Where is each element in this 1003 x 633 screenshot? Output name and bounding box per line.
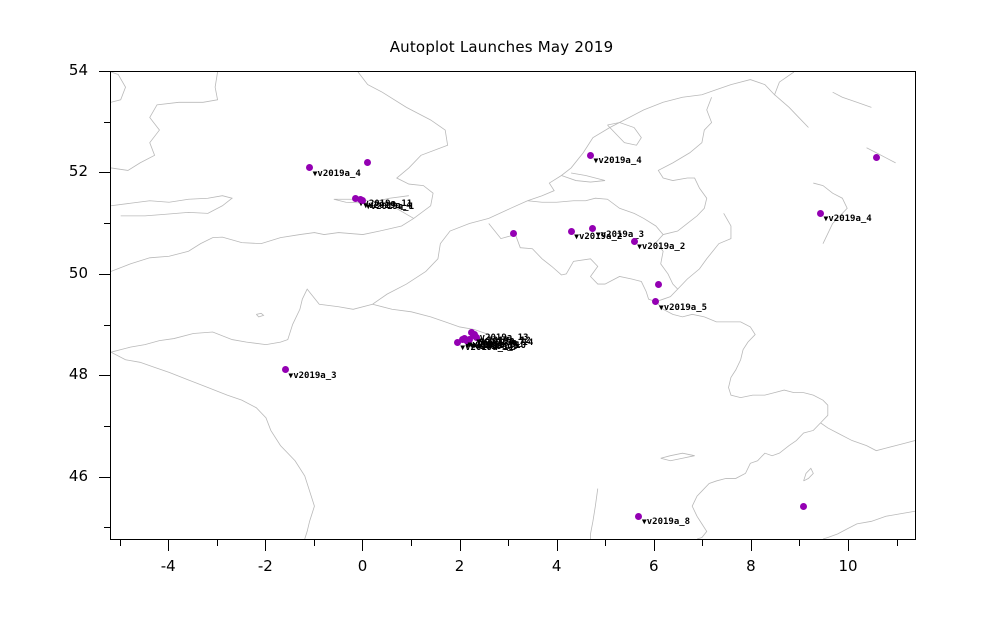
- data-point-marker[interactable]: [510, 230, 517, 237]
- x-axis-tick-major: [362, 540, 363, 551]
- x-axis-tick-label: 0: [358, 557, 368, 575]
- x-axis-tick-minor: [508, 540, 509, 546]
- data-point-label: ▼v2019a_1: [366, 202, 414, 212]
- y-axis-tick-major: [99, 477, 110, 478]
- x-axis-tick-label: 4: [552, 557, 562, 575]
- page-title: Autoplot Launches May 2019: [0, 38, 1003, 56]
- y-axis-tick-minor: [104, 325, 110, 326]
- data-point-label-text: v2019a_4: [598, 156, 641, 166]
- data-point-label-text: v2019a_3: [293, 371, 336, 381]
- y-axis-tick-minor: [104, 527, 110, 528]
- data-point-label-text: v2019a_4: [317, 169, 360, 179]
- x-axis-tick-minor: [897, 540, 898, 546]
- x-axis-tick-minor: [411, 540, 412, 546]
- x-axis-tick-major: [848, 540, 849, 551]
- x-axis-tick-minor: [799, 540, 800, 546]
- data-point-label: ▼v2019a_4: [313, 169, 361, 179]
- data-point-label: ▼v2019a_3: [288, 371, 336, 381]
- y-axis-tick-major: [99, 172, 110, 173]
- data-point-label: ▼v2019a_4: [593, 156, 641, 166]
- data-point-label: ▼v2019a_7: [476, 337, 524, 347]
- x-axis-tick-major: [557, 540, 558, 551]
- data-point-label-text: v2019a_7: [481, 337, 524, 347]
- data-point-label-text: v2019a_5: [664, 303, 707, 313]
- coastline-map: [111, 72, 915, 539]
- y-axis-tick-major: [99, 274, 110, 275]
- figure-canvas: Autoplot Launches May 2019: [0, 0, 1003, 633]
- x-axis-tick-major: [265, 540, 266, 551]
- y-axis-tick-minor: [104, 426, 110, 427]
- y-axis-tick-label: 50: [69, 264, 88, 282]
- data-point-marker[interactable]: [655, 281, 662, 288]
- map-plot-area[interactable]: ▼v2019a_4▼v2019a_11▼v2019a_4▼v2019a_1▼v2…: [110, 71, 916, 540]
- x-axis-tick-minor: [605, 540, 606, 546]
- data-point-label: ▼v2019a_5: [659, 303, 707, 313]
- x-axis-tick-label: 6: [649, 557, 659, 575]
- y-axis-tick-major: [99, 71, 110, 72]
- x-axis-tick-label: 10: [838, 557, 857, 575]
- x-axis-tick-minor: [217, 540, 218, 546]
- x-axis-tick-label: 2: [455, 557, 465, 575]
- y-axis-tick-label: 46: [69, 467, 88, 485]
- y-axis-tick-label: 54: [69, 61, 88, 79]
- y-axis-tick-label: 48: [69, 365, 88, 383]
- data-point-label-text: v2019a_8: [647, 517, 690, 527]
- y-axis-tick-major: [99, 375, 110, 376]
- x-axis-tick-major: [168, 540, 169, 551]
- data-point-label-text: v2019a_2: [642, 242, 685, 252]
- x-axis-tick-minor: [120, 540, 121, 546]
- y-axis-tick-minor: [104, 223, 110, 224]
- y-axis-tick-minor: [104, 122, 110, 123]
- x-axis-tick-label: -4: [161, 557, 176, 575]
- y-axis-tick-label: 52: [69, 162, 88, 180]
- data-point-label-text: v2019a_1: [371, 202, 414, 212]
- data-point-label-text: v2019a_3: [601, 230, 644, 240]
- data-point-label: ▼v2019a_2: [637, 242, 685, 252]
- data-point-label-text: v2019a_4: [828, 214, 871, 224]
- x-axis-tick-major: [460, 540, 461, 551]
- data-point-label: ▼v2019a_8: [642, 517, 690, 527]
- x-axis-tick-minor: [702, 540, 703, 546]
- x-axis-tick-minor: [314, 540, 315, 546]
- x-axis-tick-major: [751, 540, 752, 551]
- data-point-marker[interactable]: [800, 503, 807, 510]
- x-axis-tick-label: 8: [746, 557, 756, 575]
- x-axis-tick-label: -2: [258, 557, 273, 575]
- x-axis-tick-major: [654, 540, 655, 551]
- data-point-label: ▼v2019a_4: [824, 214, 872, 224]
